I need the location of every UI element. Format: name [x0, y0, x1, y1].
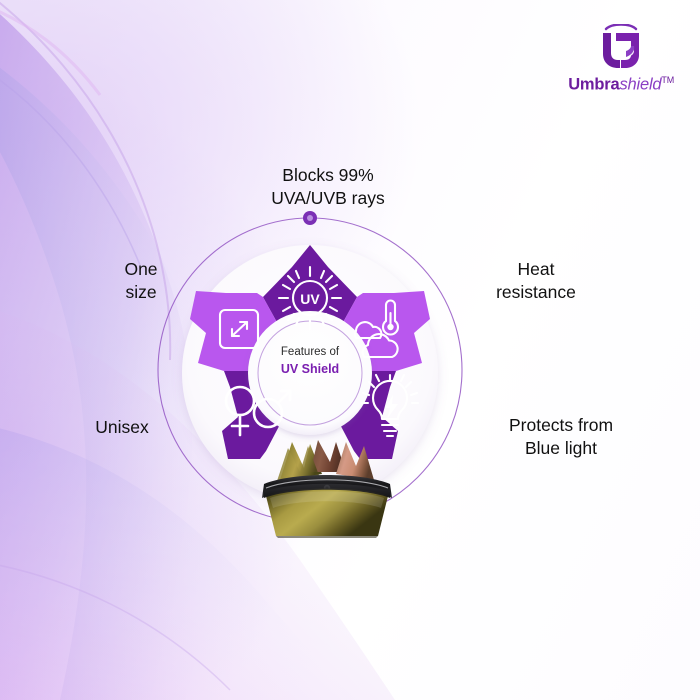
sun-uv-icon-text: UV: [300, 291, 320, 307]
umbrashield-monogram-icon: [594, 24, 648, 72]
sun-uv-icon: UV: [279, 267, 341, 329]
brand-logo[interactable]: UmbrashieldTM: [568, 24, 674, 95]
label-one-size: One size: [96, 258, 186, 304]
uv-face-shield-visor-stack-photo: [252, 428, 402, 538]
label-heat-resistance: Heat resistance: [466, 258, 606, 304]
brand-name-bold: Umbra: [568, 76, 619, 94]
label-blue-light: Protects from Blue light: [476, 414, 646, 460]
label-unisex: Unisex: [62, 416, 182, 439]
brand-wordmark: UmbrashieldTM: [568, 75, 674, 95]
trademark-symbol: TM: [661, 75, 674, 85]
brand-name-italic: shield: [619, 76, 661, 94]
label-uv-rays: Blocks 99% UVA/UVB rays: [228, 164, 428, 210]
